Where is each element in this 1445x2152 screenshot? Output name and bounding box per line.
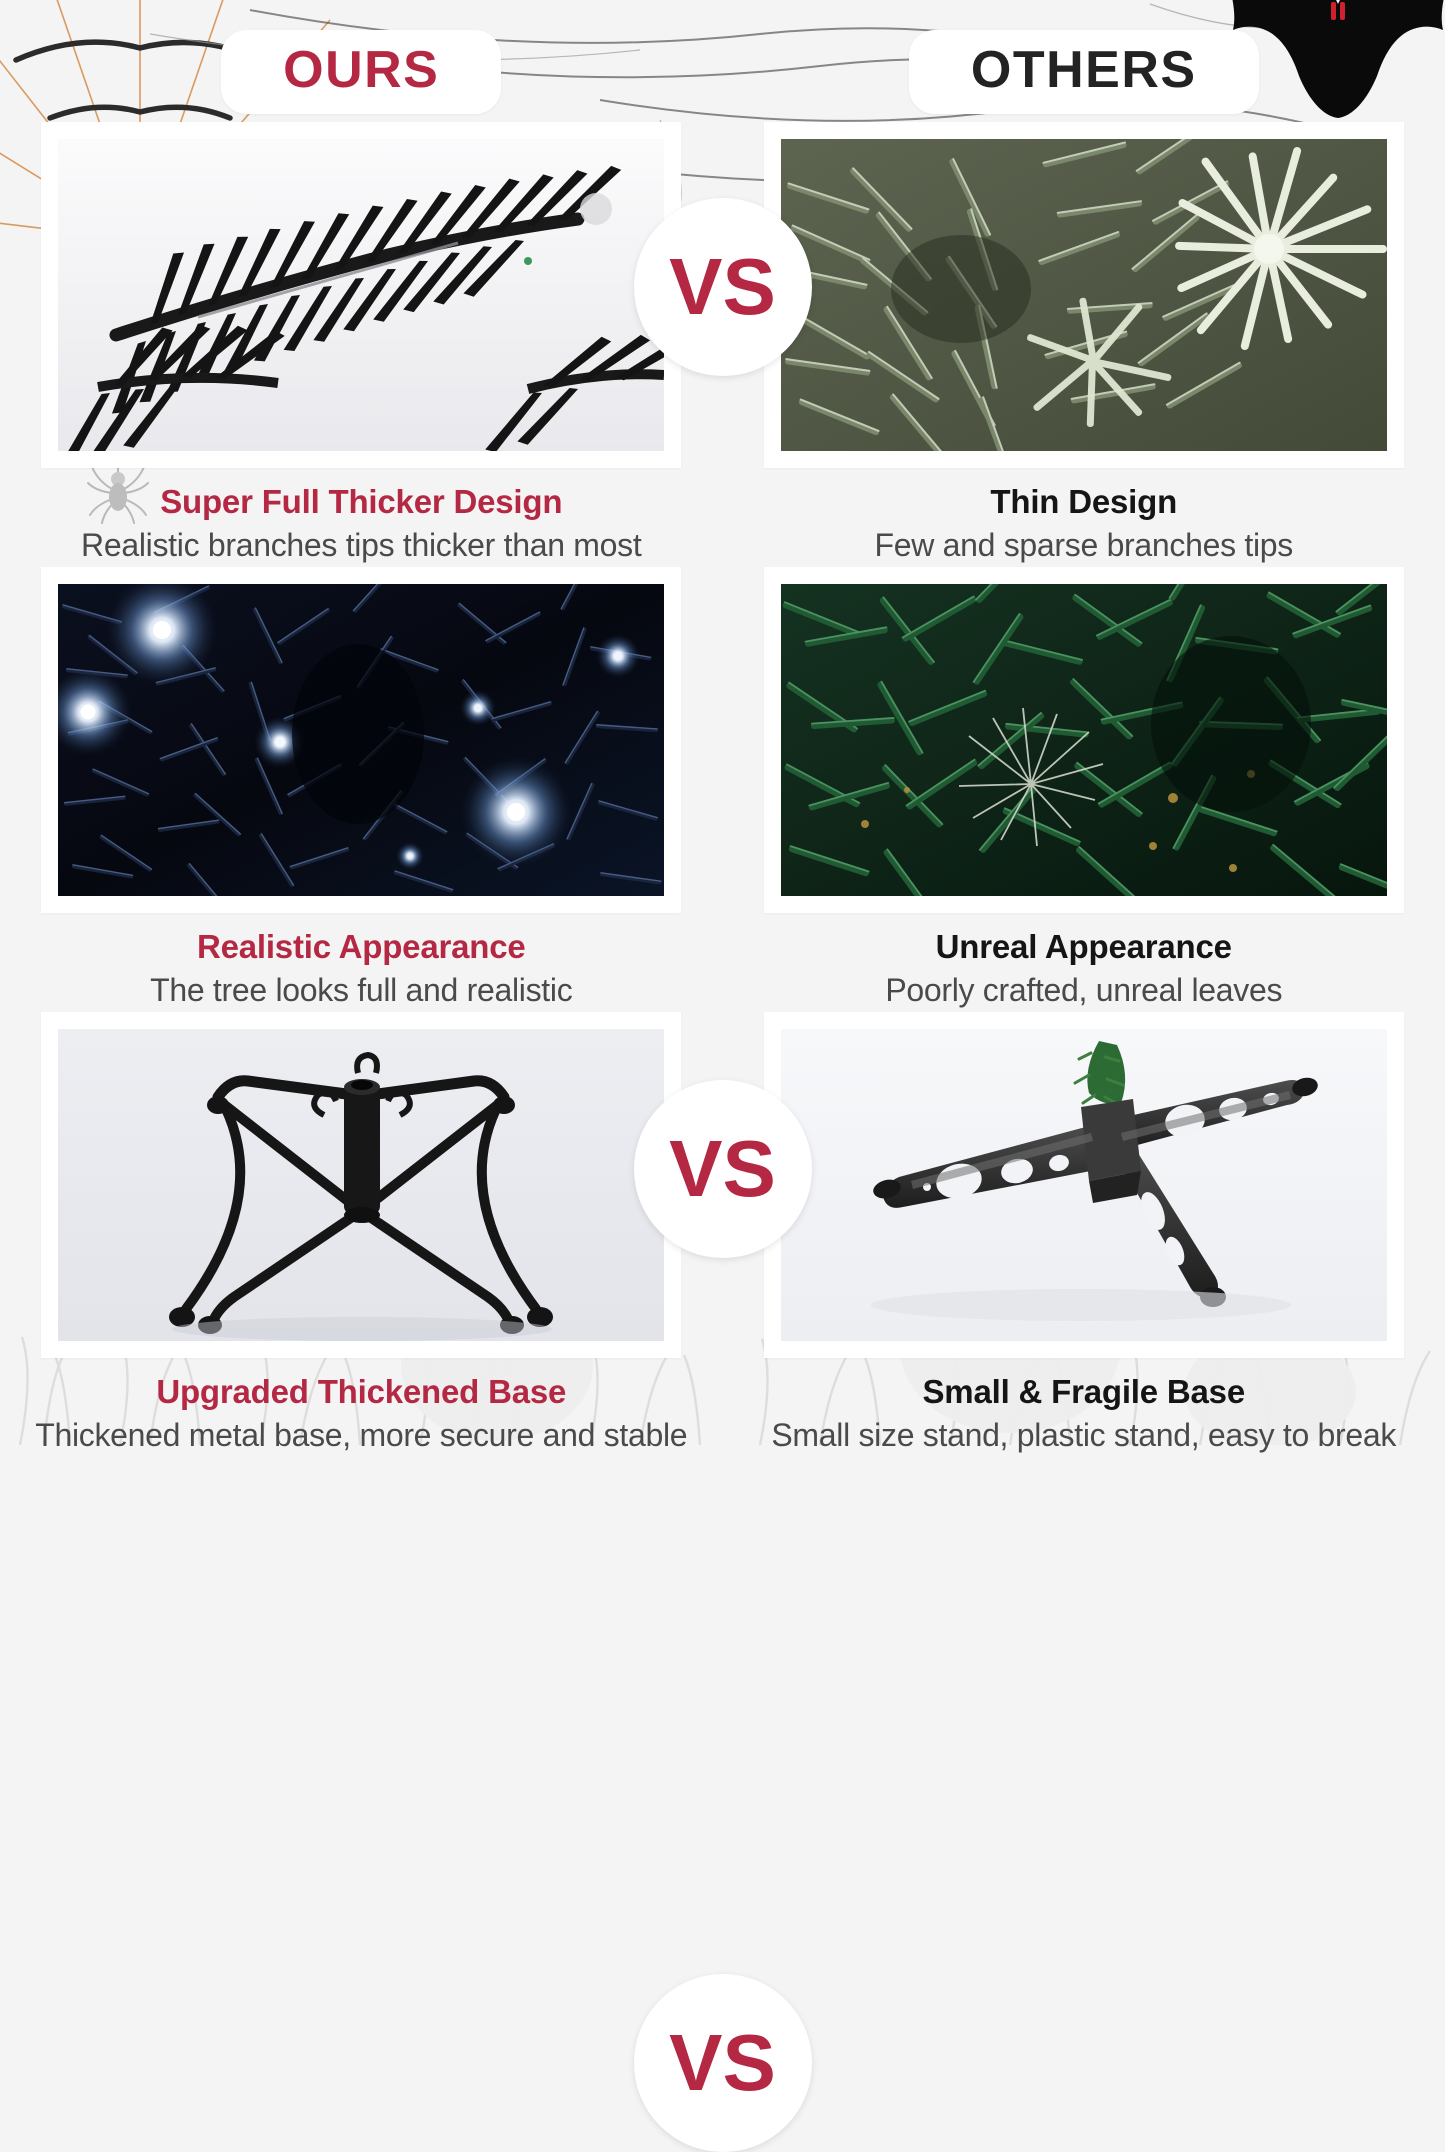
row-1-others-title: Thin Design [723, 481, 1445, 522]
vs-badge-row-2: VS [634, 1080, 812, 1258]
row-1-ours-subtitle: Realistic branches tips thicker than mos… [0, 525, 723, 567]
row-2-ours-subtitle: The tree looks full and realistic [0, 970, 723, 1012]
row-3-others-title: Small & Fragile Base [723, 1371, 1445, 1412]
row-2-ours-title: Realistic Appearance [0, 926, 723, 967]
black-metal-folding-tree-stand-photo [58, 1029, 664, 1341]
sparse-olive-needles-photo [781, 139, 1387, 451]
row-1-ours-caption: Super Full Thicker Design Realistic bran… [0, 468, 723, 567]
row-1-ours-column: Super Full Thicker Design Realistic bran… [0, 122, 723, 567]
row-3-others-caption: Small & Fragile Base Small size stand, p… [723, 1358, 1445, 1457]
comparison-grid: Super Full Thicker Design Realistic bran… [0, 122, 1445, 1457]
row-3-ours-caption: Upgraded Thickened Base Thickened metal … [0, 1358, 723, 1457]
small-plastic-tripod-stand-photo [781, 1029, 1387, 1341]
header-cell-ours: OURS [0, 30, 723, 114]
row-3-others-card [764, 1012, 1404, 1358]
row-3-others-column: Small & Fragile Base Small size stand, p… [723, 1012, 1445, 1457]
row-3-others-subtitle: Small size stand, plastic stand, easy to… [723, 1415, 1445, 1457]
comparison-header: OURS OTHERS [0, 30, 1445, 114]
row-2-others-title: Unreal Appearance [723, 926, 1445, 967]
vs-badge-row-3: VS [634, 1974, 812, 2152]
row-3-ours-title: Upgraded Thickened Base [0, 1371, 723, 1412]
comparison-row-2: Realistic Appearance The tree looks full… [0, 567, 1445, 1012]
comparison-row-1: Super Full Thicker Design Realistic bran… [0, 122, 1445, 567]
row-3-ours-subtitle: Thickened metal base, more secure and st… [0, 1415, 723, 1457]
row-1-others-card [764, 122, 1404, 468]
vs-badge-row-3-label: VS [669, 2023, 776, 2103]
row-2-others-column: Unreal Appearance Poorly crafted, unreal… [723, 567, 1445, 1012]
row-1-others-column: Thin Design Few and sparse branches tips [723, 122, 1445, 567]
lit-black-tree-white-leds-photo [58, 584, 664, 896]
row-2-others-card [764, 567, 1404, 913]
ours-badge: OURS [221, 30, 501, 114]
row-2-ours-caption: Realistic Appearance The tree looks full… [0, 913, 723, 1012]
row-3-ours-column: Upgraded Thickened Base Thickened metal … [0, 1012, 723, 1457]
others-badge: OTHERS [909, 30, 1259, 114]
vs-badge-row-1-label: VS [669, 247, 776, 327]
row-1-ours-title: Super Full Thicker Design [0, 481, 723, 522]
dark-green-unreal-needles-photo [781, 584, 1387, 896]
row-2-ours-card [41, 567, 681, 913]
row-2-ours-column: Realistic Appearance The tree looks full… [0, 567, 723, 1012]
vs-badge-row-1: VS [634, 198, 812, 376]
row-1-ours-card [41, 122, 681, 468]
row-1-others-caption: Thin Design Few and sparse branches tips [723, 468, 1445, 567]
vs-badge-row-2-label: VS [669, 1129, 776, 1209]
header-cell-others: OTHERS [723, 30, 1445, 114]
row-1-others-subtitle: Few and sparse branches tips [723, 525, 1445, 567]
row-2-others-subtitle: Poorly crafted, unreal leaves [723, 970, 1445, 1012]
row-3-ours-card [41, 1012, 681, 1358]
black-thick-pine-branch-photo [58, 139, 664, 451]
row-2-others-caption: Unreal Appearance Poorly crafted, unreal… [723, 913, 1445, 1012]
